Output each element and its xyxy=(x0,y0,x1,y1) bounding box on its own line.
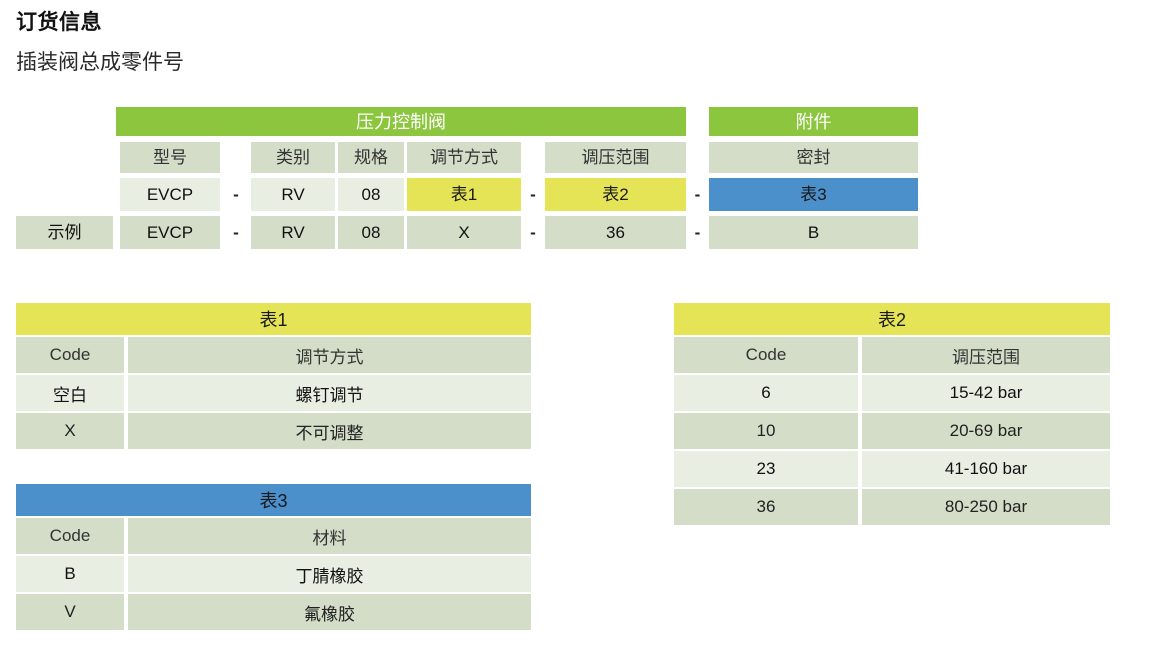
table3-header-value: 材料 xyxy=(128,518,531,554)
table3-row-code: V xyxy=(16,594,124,630)
code-row-separator-1: - xyxy=(224,178,248,211)
table1-row-value: 螺钉调节 xyxy=(128,375,531,411)
table3: 表3 Code 材料 B 丁腈橡胶 V 氟橡胶 xyxy=(16,484,531,630)
example-row-pressure-range: 36 xyxy=(545,216,686,249)
table1-header-code: Code xyxy=(16,337,124,373)
column-header-type: 类别 xyxy=(251,142,335,173)
table3-header-code: Code xyxy=(16,518,124,554)
table3-header-row: Code 材料 xyxy=(16,518,531,554)
page-subtitle: 插装阀总成零件号 xyxy=(16,46,184,76)
table3-row: V 氟橡胶 xyxy=(16,594,531,630)
page-title: 订货信息 xyxy=(16,6,102,36)
table3-row-value: 氟橡胶 xyxy=(128,594,531,630)
code-row-size: 08 xyxy=(338,178,404,211)
table2-row-code: 23 xyxy=(674,451,858,487)
group-header-pressure-control-valve: 压力控制阀 xyxy=(116,107,686,136)
table2-row-value: 41-160 bar xyxy=(862,451,1110,487)
table1-title: 表1 xyxy=(16,303,531,335)
table2-row-code: 10 xyxy=(674,413,858,449)
table2-title: 表2 xyxy=(674,303,1110,335)
code-row-separator-2: - xyxy=(521,178,545,211)
table2: 表2 Code 调压范围 6 15-42 bar 10 20-69 bar 23… xyxy=(674,303,1110,525)
table2-header-code: Code xyxy=(674,337,858,373)
table2-row: 10 20-69 bar xyxy=(674,413,1110,449)
table1-row: X 不可调整 xyxy=(16,413,531,449)
code-row-pressure-range: 表2 xyxy=(545,178,686,211)
table3-row-value: 丁腈橡胶 xyxy=(128,556,531,592)
table1-row-value: 不可调整 xyxy=(128,413,531,449)
table2-row-value: 15-42 bar xyxy=(862,375,1110,411)
table2-row-value: 20-69 bar xyxy=(862,413,1110,449)
example-row-type: RV xyxy=(251,216,335,249)
table2-header-value: 调压范围 xyxy=(862,337,1110,373)
example-row-model: EVCP xyxy=(120,216,220,249)
table3-title: 表3 xyxy=(16,484,531,516)
column-header-pressure-range: 调压范围 xyxy=(545,142,686,173)
example-row-separator-1: - xyxy=(224,216,248,249)
table1-row: 空白 螺钉调节 xyxy=(16,375,531,411)
column-header-size: 规格 xyxy=(338,142,404,173)
code-row-adjustment: 表1 xyxy=(407,178,521,211)
table1-header-value: 调节方式 xyxy=(128,337,531,373)
table2-row: 6 15-42 bar xyxy=(674,375,1110,411)
example-row-label: 示例 xyxy=(16,216,113,249)
table3-row: B 丁腈橡胶 xyxy=(16,556,531,592)
example-row-separator-3: - xyxy=(686,216,709,249)
table1-row-code: 空白 xyxy=(16,375,124,411)
example-row-seal: B xyxy=(709,216,918,249)
table2-row: 36 80-250 bar xyxy=(674,489,1110,525)
column-header-adjustment: 调节方式 xyxy=(407,142,521,173)
code-row-model: EVCP xyxy=(120,178,220,211)
table2-row-code: 6 xyxy=(674,375,858,411)
code-row-type: RV xyxy=(251,178,335,211)
table1: 表1 Code 调节方式 空白 螺钉调节 X 不可调整 xyxy=(16,303,531,449)
table2-row-code: 36 xyxy=(674,489,858,525)
example-row-separator-2: - xyxy=(521,216,545,249)
table2-row-value: 80-250 bar xyxy=(862,489,1110,525)
table1-row-code: X xyxy=(16,413,124,449)
column-header-model: 型号 xyxy=(120,142,220,173)
code-row-separator-3: - xyxy=(686,178,709,211)
code-row-seal: 表3 xyxy=(709,178,918,211)
table2-row: 23 41-160 bar xyxy=(674,451,1110,487)
example-row-adjustment: X xyxy=(407,216,521,249)
group-header-accessory: 附件 xyxy=(709,107,918,136)
table1-header-row: Code 调节方式 xyxy=(16,337,531,373)
example-row-size: 08 xyxy=(338,216,404,249)
table3-row-code: B xyxy=(16,556,124,592)
column-header-seal: 密封 xyxy=(709,142,918,173)
table2-header-row: Code 调压范围 xyxy=(674,337,1110,373)
